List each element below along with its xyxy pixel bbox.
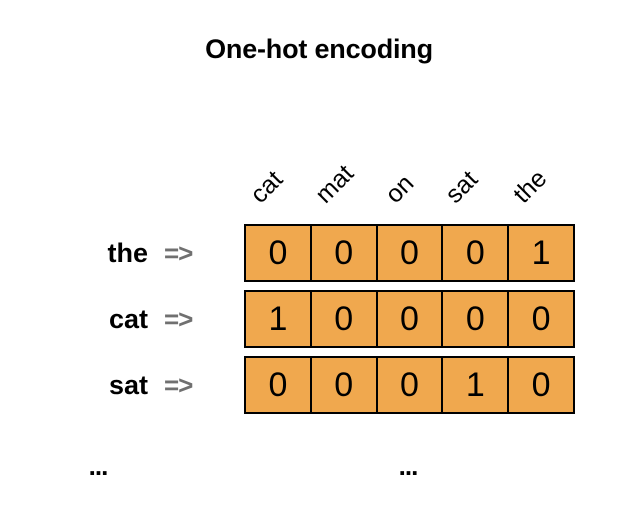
- row-label-sat: sat =>: [56, 356, 242, 414]
- matrix-cell: 0: [443, 226, 509, 280]
- matrix-cell: 0: [312, 226, 378, 280]
- row-label-the: the =>: [56, 224, 242, 282]
- row-label-cat: cat =>: [56, 290, 242, 348]
- arrow-icon: =>: [164, 240, 192, 266]
- matrix-cell: 0: [312, 292, 378, 346]
- table-row: 0 0 0 0 1: [244, 224, 575, 282]
- matrix-cell: 0: [246, 358, 312, 412]
- column-header-group: cat mat on sat the: [244, 118, 575, 208]
- matrix-cell: 0: [378, 292, 444, 346]
- table-row: 1 0 0 0 0: [244, 290, 575, 348]
- page-title: One-hot encoding: [0, 36, 638, 63]
- matrix-cell: 0: [246, 226, 312, 280]
- arrow-icon: =>: [164, 372, 192, 398]
- matrix-cell: 1: [443, 358, 509, 412]
- matrix-cell: 0: [312, 358, 378, 412]
- arrow-icon: =>: [164, 306, 192, 332]
- row-word-sat: sat: [56, 372, 148, 399]
- matrix-cell: 1: [246, 292, 312, 346]
- row-word-cat: cat: [56, 306, 148, 333]
- matrix-cell: 1: [509, 226, 573, 280]
- matrix-cell: 0: [378, 358, 444, 412]
- table-row: 0 0 0 1 0: [244, 356, 575, 414]
- matrix-cell: 0: [443, 292, 509, 346]
- one-hot-encoding-figure: One-hot encoding cat mat on sat the the …: [0, 0, 638, 522]
- matrix-cell: 0: [509, 358, 573, 412]
- row-word-the: the: [56, 240, 148, 267]
- matrix-cell: 0: [509, 292, 573, 346]
- row-labels-ellipsis: ...: [89, 453, 108, 479]
- matrix-ellipsis: ...: [399, 453, 418, 479]
- matrix-cell: 0: [378, 226, 444, 280]
